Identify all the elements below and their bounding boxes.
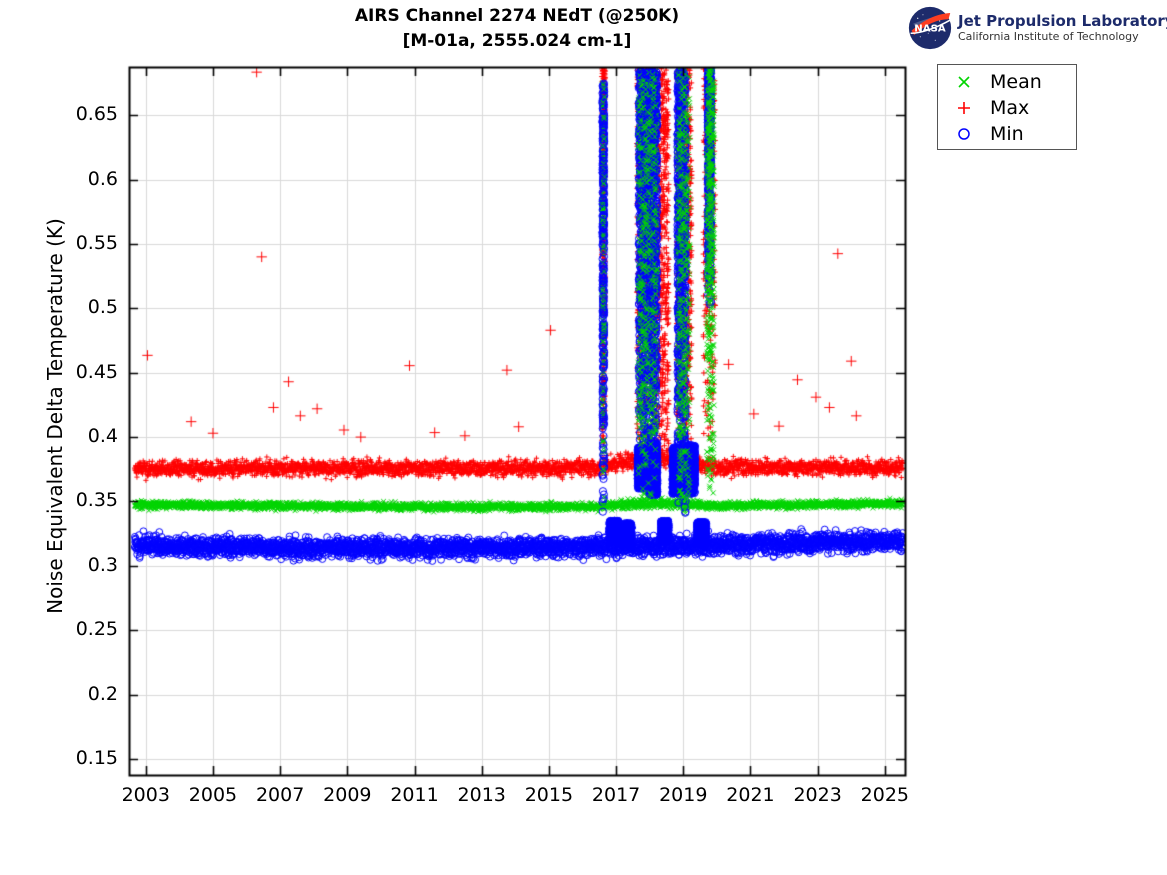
legend-item-min[interactable]: Min <box>938 121 1076 147</box>
nasa-wordmark: NASA <box>914 24 946 35</box>
y-tick-label: 0.65 <box>48 104 118 124</box>
nasa-meatball-icon: NASA <box>908 6 952 50</box>
y-tick-label: 0.4 <box>48 426 118 446</box>
jpl-text-block: Jet Propulsion Laboratory California Ins… <box>958 13 1167 44</box>
title-line-1: AIRS Channel 2274 NEdT (@250K) <box>129 4 905 29</box>
legend-item-mean[interactable]: Mean <box>938 69 1076 95</box>
jpl-subtitle: California Institute of Technology <box>958 30 1167 44</box>
x-tick-label: 2025 <box>840 784 930 806</box>
legend-marker-+-icon <box>938 100 990 117</box>
page-title: AIRS Channel 2274 NEdT (@250K) [M-01a, 2… <box>129 4 905 54</box>
chart-legend: MeanMaxMin <box>937 64 1077 150</box>
y-tick-label: 0.25 <box>48 619 118 639</box>
y-tick-label: 0.3 <box>48 555 118 575</box>
legend-label: Mean <box>990 71 1042 93</box>
y-tick-label: 0.35 <box>48 490 118 510</box>
title-line-2: [M-01a, 2555.024 cm-1] <box>129 29 905 54</box>
y-axis-tick-labels: 0.150.20.250.30.350.40.450.50.550.60.65 <box>42 0 118 875</box>
legend-label: Max <box>990 97 1029 119</box>
y-tick-label: 0.5 <box>48 297 118 317</box>
chart-figure: AIRS Channel 2274 NEdT (@250K) [M-01a, 2… <box>0 0 1167 875</box>
legend-item-max[interactable]: Max <box>938 95 1076 121</box>
y-tick-label: 0.6 <box>48 169 118 189</box>
y-tick-label: 0.45 <box>48 362 118 382</box>
legend-marker-o-icon <box>938 126 990 143</box>
y-tick-label: 0.15 <box>48 748 118 768</box>
legend-marker-x-icon <box>938 74 990 91</box>
jpl-title: Jet Propulsion Laboratory <box>958 13 1167 30</box>
legend-label: Min <box>990 123 1024 145</box>
y-tick-label: 0.2 <box>48 684 118 704</box>
y-tick-label: 0.55 <box>48 233 118 253</box>
nasa-jpl-logo: NASA Jet Propulsion Laboratory Californi… <box>908 7 1160 49</box>
